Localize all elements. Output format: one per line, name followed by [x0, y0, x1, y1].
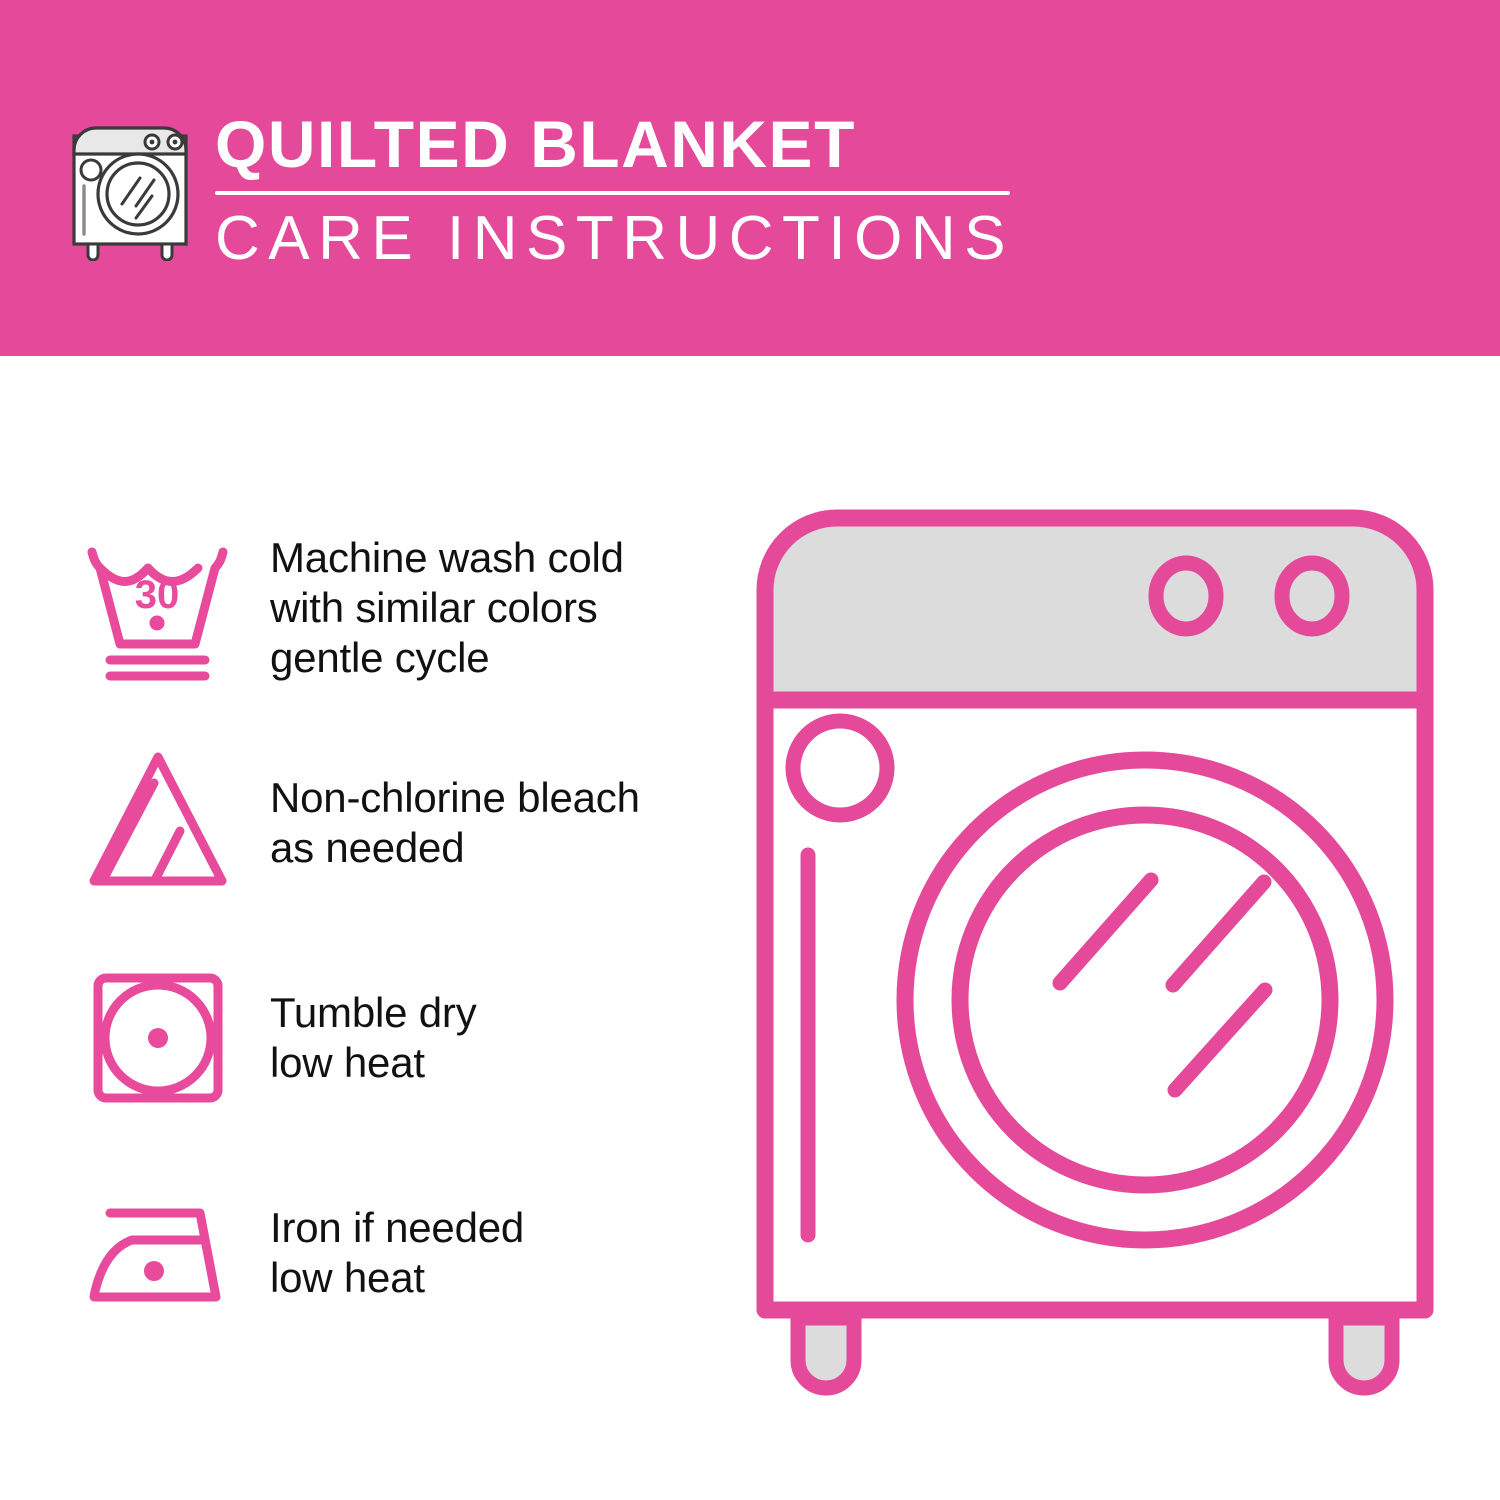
control-panel-fill: [765, 518, 1425, 700]
door-outer-ring: [905, 760, 1385, 1240]
indicator-light: [793, 721, 887, 815]
wash-temperature-value: 30: [135, 573, 180, 617]
front-load-washing-machine-illustration: [745, 500, 1445, 1410]
care-row: Non-chlorine bleach as needed: [70, 715, 710, 930]
door-glass-streaks: [1060, 880, 1265, 1090]
care-row: Iron if needed low heat: [70, 1145, 710, 1360]
leg-right: [1336, 1318, 1392, 1388]
non-chlorine-bleach-triangle-icon: [70, 735, 245, 910]
care-label: Machine wash cold with similar colors ge…: [270, 533, 624, 683]
page-subtitle: CARE INSTRUCTIONS: [215, 204, 1025, 274]
iron-low-heat-icon: [70, 1165, 245, 1340]
page-title: QUILTED BLANKET: [215, 108, 1025, 180]
leg-left: [798, 1318, 854, 1388]
header-text-block: QUILTED BLANKET CARE INSTRUCTIONS: [215, 108, 1025, 274]
care-label: Non-chlorine bleach as needed: [270, 773, 640, 873]
care-label: Tumble dry low heat: [270, 988, 477, 1088]
care-row: 30 Machine wash cold with similar colors…: [70, 500, 710, 715]
care-row: Tumble dry low heat: [70, 930, 710, 1145]
care-instruction-list: 30 Machine wash cold with similar colors…: [70, 500, 710, 1360]
care-label: Iron if needed low heat: [270, 1203, 524, 1303]
washing-machine-icon: [62, 106, 202, 261]
wash-tub-30-icon: 30: [70, 520, 245, 695]
door-inner-ring: [960, 815, 1330, 1185]
header-divider: [215, 191, 1010, 195]
header-banner: QUILTED BLANKET CARE INSTRUCTIONS: [0, 0, 1500, 356]
tumble-dry-low-icon: [70, 950, 245, 1125]
